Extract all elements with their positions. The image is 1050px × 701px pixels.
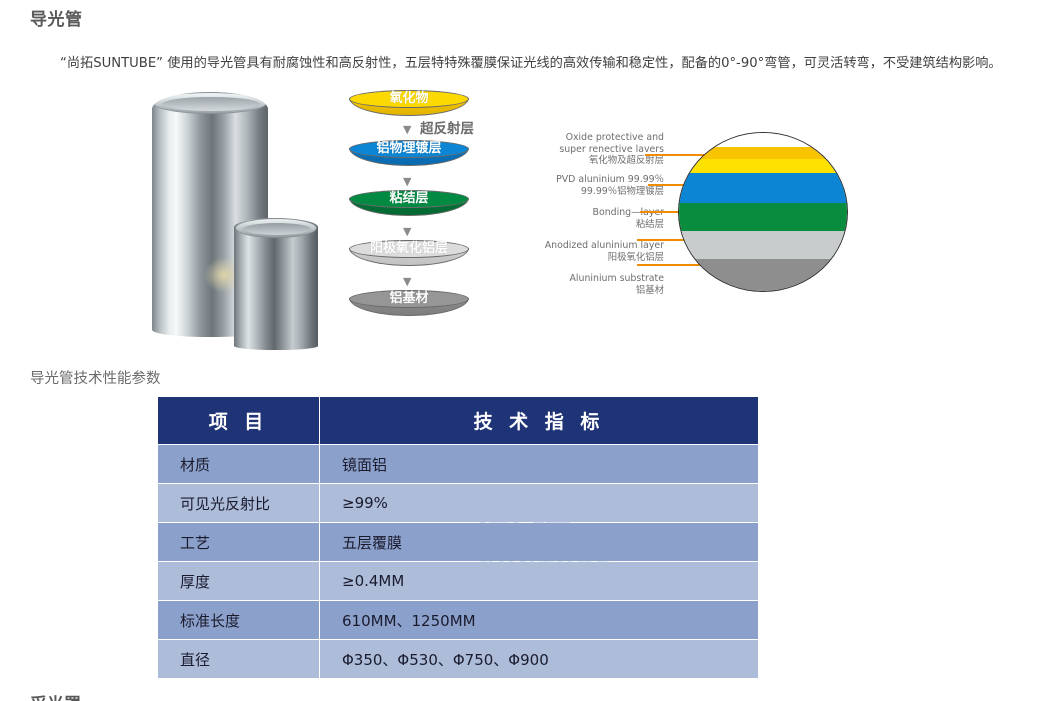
cell-item: 可见光反射比 bbox=[158, 484, 319, 522]
cross-section-clip bbox=[678, 132, 848, 292]
cell-value: 610MM、1250MM bbox=[320, 601, 758, 639]
stack-arrow-icon-1: ▼ bbox=[403, 124, 411, 135]
layer-disc-label: 铝基材 bbox=[348, 290, 470, 308]
stack-arrow-icon-3: ▼ bbox=[403, 226, 411, 237]
layer-disc-label: 铝物理镀层 bbox=[348, 140, 470, 158]
stack-arrow-icon-4: ▼ bbox=[403, 276, 411, 287]
stack-arrow-icon-2: ▼ bbox=[403, 176, 411, 187]
spec-table: 项 目 技 术 指 标 材质 镜面铝 可见光反射比 ≥99% 工艺 五层覆膜 厚… bbox=[157, 396, 759, 679]
callout-oxide: Oxide protective and super renective lav… bbox=[559, 132, 664, 167]
layer-stack-diagram: 氧化物 ▼ 超反射层 铝物理镀层 ▼ 粘结层 ▼ 阳极氧化铝层 ▼ 铝基材 bbox=[348, 84, 484, 344]
band-white bbox=[679, 133, 847, 147]
band-substrate bbox=[679, 259, 847, 292]
next-section-heading-partial: 采光罩 bbox=[30, 690, 81, 701]
table-row: 材质 镜面铝 bbox=[158, 445, 758, 483]
tube-rim-large bbox=[153, 92, 267, 114]
spec-table-wrapper: 尚拓 ® SUNTUBE 项 目 技 术 指 标 材质 镜面铝 可见光反射比 ≥… bbox=[157, 396, 758, 678]
light-tube-photo bbox=[152, 92, 318, 342]
band-oxide-light bbox=[679, 159, 847, 173]
figure-band: 氧化物 ▼ 超反射层 铝物理镀层 ▼ 粘结层 ▼ 阳极氧化铝层 ▼ 铝基材 bbox=[0, 84, 1050, 346]
table-row: 厚度 ≥0.4MM bbox=[158, 562, 758, 600]
section-subtitle: 导光管技术性能参数 bbox=[30, 367, 161, 388]
callout-en-line1: Bonding—layer bbox=[593, 207, 664, 219]
cell-item: 材质 bbox=[158, 445, 319, 483]
callout-cn: 氧化物及超反射层 bbox=[559, 155, 664, 167]
cell-item: 厚度 bbox=[158, 562, 319, 600]
cell-item: 工艺 bbox=[158, 523, 319, 561]
callout-anodized: Anodized aluninium layer 阳极氧化铝层 bbox=[545, 240, 664, 263]
cell-value: ≥99% bbox=[320, 484, 758, 522]
layer-disc-anodized: 阳极氧化铝层 bbox=[348, 240, 472, 270]
cell-value: 镜面铝 bbox=[320, 445, 758, 483]
tube-rim-small bbox=[235, 218, 317, 238]
callout-cn: 粘结层 bbox=[593, 219, 664, 231]
band-bonding bbox=[679, 203, 847, 231]
table-header-row: 项 目 技 术 指 标 bbox=[158, 397, 758, 444]
tube-inner-shadow-small bbox=[243, 223, 311, 235]
light-tube-small bbox=[234, 218, 318, 350]
cross-section-callouts: Oxide protective and super renective lav… bbox=[484, 132, 664, 332]
layer-disc-label: 氧化物 bbox=[348, 90, 470, 108]
cell-item: 直径 bbox=[158, 640, 319, 678]
table-row: 工艺 五层覆膜 bbox=[158, 523, 758, 561]
column-header-value: 技 术 指 标 bbox=[320, 397, 758, 444]
tube-inner-shadow-large bbox=[162, 97, 260, 111]
callout-en-line1: Aluninium substrate bbox=[570, 273, 665, 285]
table-row: 可见光反射比 ≥99% bbox=[158, 484, 758, 522]
layer-disc-substrate: 铝基材 bbox=[348, 290, 472, 320]
callout-cn: 99.99％铝物理镀层 bbox=[556, 186, 664, 198]
callout-en-line1: Anodized aluninium layer bbox=[545, 240, 664, 252]
cell-value: 五层覆膜 bbox=[320, 523, 758, 561]
callout-substrate: Aluninium substrate 铝基材 bbox=[570, 273, 665, 296]
super-reflective-note: 超反射层 bbox=[420, 117, 474, 137]
layer-disc-oxide: 氧化物 bbox=[348, 90, 472, 120]
band-anodized bbox=[679, 231, 847, 259]
layer-disc-label: 粘结层 bbox=[348, 190, 470, 208]
callout-en-line1: Oxide protective and bbox=[559, 132, 664, 144]
band-oxide-dark bbox=[679, 147, 847, 159]
layer-disc-label: 阳极氧化铝层 bbox=[348, 240, 470, 258]
layer-disc-pvd-aluminium: 铝物理镀层 bbox=[348, 140, 472, 170]
column-header-item: 项 目 bbox=[158, 397, 319, 444]
cross-section-circle bbox=[678, 132, 850, 294]
cell-value: ≥0.4MM bbox=[320, 562, 758, 600]
cell-item: 标准长度 bbox=[158, 601, 319, 639]
band-pvd-aluminium bbox=[679, 173, 847, 203]
callout-cn: 铝基材 bbox=[570, 285, 665, 297]
table-row: 标准长度 610MM、1250MM bbox=[158, 601, 758, 639]
page-title: 导光管 bbox=[30, 5, 83, 30]
callout-cn: 阳极氧化铝层 bbox=[545, 252, 664, 264]
intro-paragraph: “尚拓SUNTUBE” 使用的导光管具有耐腐蚀性和高反射性，五层特特殊覆膜保证光… bbox=[60, 52, 1045, 71]
table-row: 直径 Φ350、Φ530、Φ750、Φ900 bbox=[158, 640, 758, 678]
layer-disc-bonding: 粘结层 bbox=[348, 190, 472, 220]
cell-value: Φ350、Φ530、Φ750、Φ900 bbox=[320, 640, 758, 678]
